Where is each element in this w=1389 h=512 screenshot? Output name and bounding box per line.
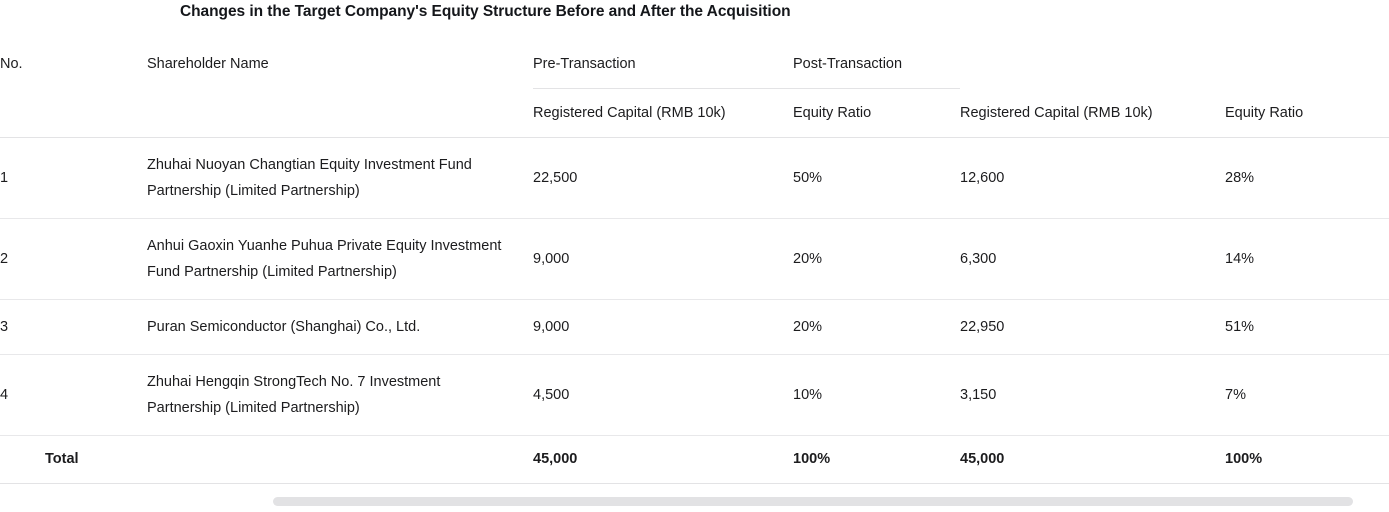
cell-pre-ratio: 20% <box>793 219 960 300</box>
table-scroll-container[interactable]: No. Shareholder Name Pre-Transaction Pos… <box>0 40 1389 512</box>
column-header-pre-transaction: Pre-Transaction <box>533 40 793 89</box>
cell-total-name <box>147 436 533 484</box>
table-row: 2 Anhui Gaoxin Yuanhe Puhua Private Equi… <box>0 219 1389 300</box>
subheader-pre-equity-ratio: Equity Ratio <box>793 89 960 138</box>
cell-shareholder-name: Puran Semiconductor (Shanghai) Co., Ltd. <box>147 300 533 355</box>
subheader-pre-registered-capital: Registered Capital (RMB 10k) <box>533 89 793 138</box>
column-header-spacer-1 <box>960 40 1225 89</box>
column-header-no: No. <box>0 40 147 89</box>
cell-post-capital: 6,300 <box>960 219 1225 300</box>
subheader-post-equity-ratio: Equity Ratio <box>1225 89 1389 138</box>
table-header-sub-row: Registered Capital (RMB 10k) Equity Rati… <box>0 89 1389 138</box>
cell-shareholder-name: Anhui Gaoxin Yuanhe Puhua Private Equity… <box>147 219 533 300</box>
cell-pre-ratio: 50% <box>793 138 960 219</box>
cell-pre-ratio: 10% <box>793 355 960 436</box>
cell-total-label: Total <box>0 436 147 484</box>
subheader-post-registered-capital: Registered Capital (RMB 10k) <box>960 89 1225 138</box>
column-header-spacer-2 <box>1225 40 1389 89</box>
document-page: Changes in the Target Company's Equity S… <box>0 0 1389 512</box>
table-row: 4 Zhuhai Hengqin StrongTech No. 7 Invest… <box>0 355 1389 436</box>
cell-total-post-ratio: 100% <box>1225 436 1389 484</box>
table-body: 1 Zhuhai Nuoyan Changtian Equity Investm… <box>0 138 1389 484</box>
cell-no: 4 <box>0 355 147 436</box>
cell-post-ratio: 28% <box>1225 138 1389 219</box>
cell-post-capital: 3,150 <box>960 355 1225 436</box>
cell-pre-capital: 22,500 <box>533 138 793 219</box>
table-total-row: Total 45,000 100% 45,000 100% <box>0 436 1389 484</box>
table-header: No. Shareholder Name Pre-Transaction Pos… <box>0 40 1389 138</box>
cell-shareholder-name: Zhuhai Nuoyan Changtian Equity Investmen… <box>147 138 533 219</box>
cell-no: 2 <box>0 219 147 300</box>
horizontal-scrollbar-track[interactable] <box>0 495 1389 507</box>
cell-shareholder-name: Zhuhai Hengqin StrongTech No. 7 Investme… <box>147 355 533 436</box>
cell-post-ratio: 7% <box>1225 355 1389 436</box>
cell-no: 1 <box>0 138 147 219</box>
cell-post-ratio: 14% <box>1225 219 1389 300</box>
subheader-no-blank <box>0 89 147 138</box>
column-header-post-transaction: Post-Transaction <box>793 40 960 89</box>
cell-pre-ratio: 20% <box>793 300 960 355</box>
cell-post-capital: 22,950 <box>960 300 1225 355</box>
table-row: 3 Puran Semiconductor (Shanghai) Co., Lt… <box>0 300 1389 355</box>
cell-total-pre-ratio: 100% <box>793 436 960 484</box>
table-header-group-row: No. Shareholder Name Pre-Transaction Pos… <box>0 40 1389 89</box>
table-row: 1 Zhuhai Nuoyan Changtian Equity Investm… <box>0 138 1389 219</box>
cell-total-pre-capital: 45,000 <box>533 436 793 484</box>
cell-post-ratio: 51% <box>1225 300 1389 355</box>
cell-total-post-capital: 45,000 <box>960 436 1225 484</box>
column-header-shareholder-name: Shareholder Name <box>147 40 533 89</box>
horizontal-scrollbar-thumb[interactable] <box>273 497 1353 506</box>
cell-pre-capital: 9,000 <box>533 219 793 300</box>
cell-post-capital: 12,600 <box>960 138 1225 219</box>
page-title: Changes in the Target Company's Equity S… <box>180 3 791 21</box>
cell-pre-capital: 9,000 <box>533 300 793 355</box>
subheader-name-blank <box>147 89 533 138</box>
cell-pre-capital: 4,500 <box>533 355 793 436</box>
cell-no: 3 <box>0 300 147 355</box>
equity-structure-table: No. Shareholder Name Pre-Transaction Pos… <box>0 40 1389 484</box>
